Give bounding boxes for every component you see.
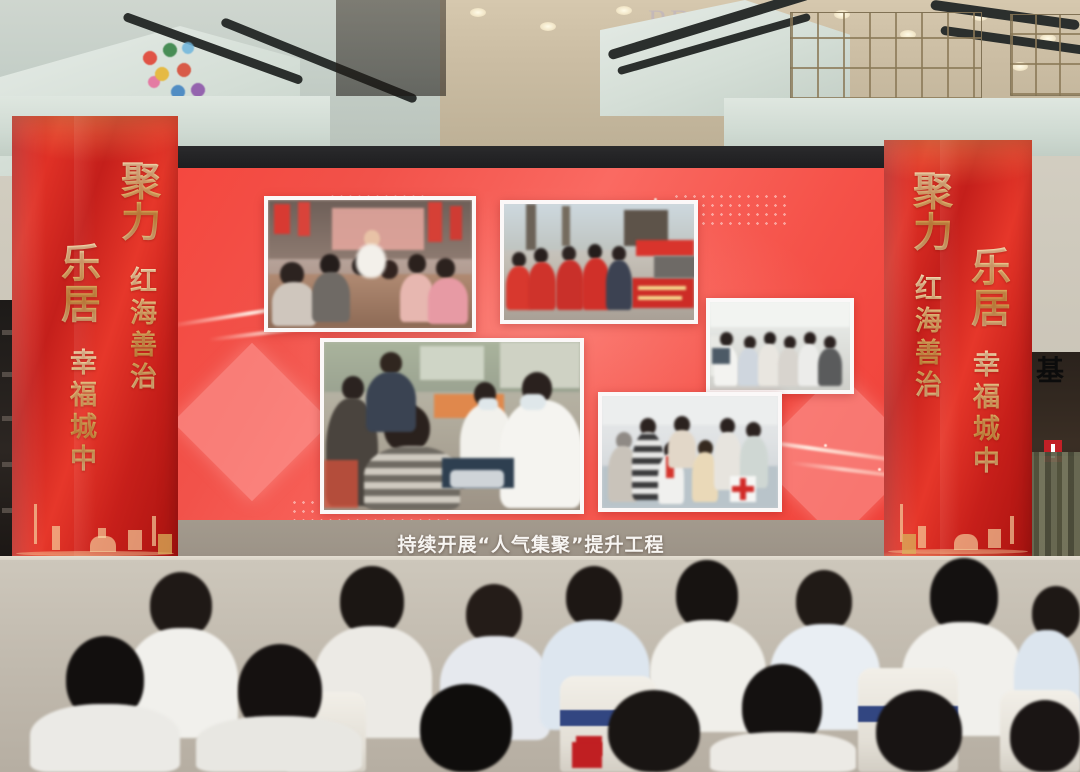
banner-right-col-a2: 红海善治	[906, 274, 945, 402]
screen-photo-children-redcross	[598, 392, 782, 512]
banner-right-col-b: 乐居	[958, 246, 1016, 328]
banner-left-col-b2: 幸福城中	[61, 348, 100, 476]
hanging-clothes	[1028, 452, 1080, 572]
banner-right-col-a: 聚力	[900, 170, 958, 252]
banner-right-seal	[902, 534, 916, 554]
screen-caption: 持续开展“人气集聚”提升工程	[178, 530, 884, 557]
banner-right-col-b2: 幸福城中	[964, 350, 1003, 478]
banner-left-col-b: 乐居	[48, 242, 106, 324]
led-screen-top-bezel	[178, 146, 884, 170]
banner-left: 聚力 红海善治 乐居 幸福城中	[12, 116, 178, 572]
store-sign-character: 基	[1036, 354, 1066, 388]
screen-photo-indoor-meeting	[264, 196, 476, 332]
red-booklet	[572, 742, 602, 768]
banner-left-col-a2: 红海善治	[121, 266, 160, 394]
screen-photo-free-clinic	[320, 338, 584, 514]
event-photo: RD 基	[0, 0, 1080, 772]
led-screen	[178, 168, 884, 520]
banner-left-seal	[158, 534, 172, 554]
banner-left-col-a: 聚力	[108, 160, 166, 242]
upper-railing	[790, 12, 982, 100]
upper-store-front	[336, 0, 446, 96]
screen-photo-group-indoor	[706, 298, 854, 394]
screen-photo-volunteers-outdoor	[500, 200, 698, 324]
banner-right: 聚力 红海善治 乐居 幸福城中	[884, 140, 1032, 570]
